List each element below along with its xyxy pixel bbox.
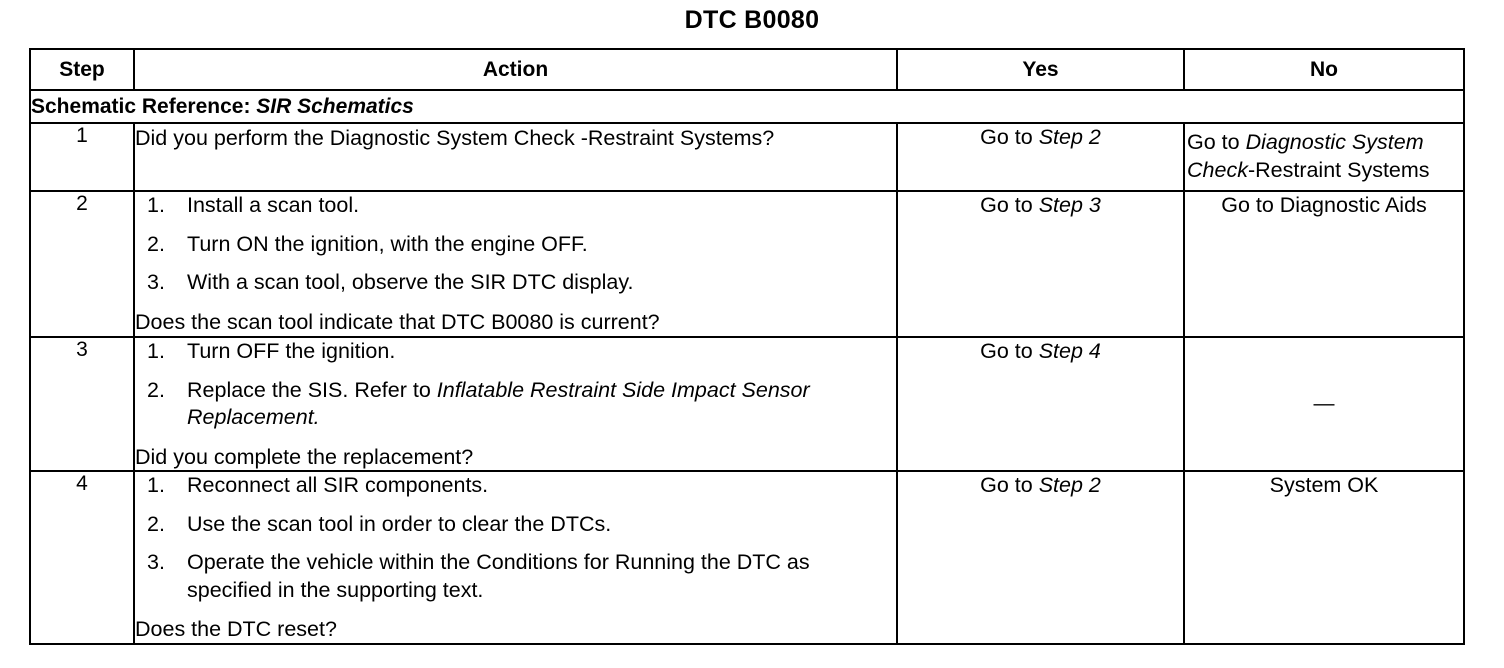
action-step-list: 1.Install a scan tool. 2.Turn ON the ign… [135, 192, 896, 297]
action-question: Did you perform the Diagnostic System Ch… [135, 128, 896, 150]
yes-branch-cell: Go to Step 4 [897, 337, 1184, 471]
document-page: DTC B0080 Step Action Yes No Schematic R… [0, 0, 1504, 668]
table-row: 3 1.Turn OFF the ignition. 2.Replace the… [30, 337, 1464, 471]
no-branch-text: System OK [1270, 473, 1379, 497]
list-item-number: 2. [147, 511, 175, 539]
no-branch-suffix: -Restraint Systems [1248, 158, 1430, 182]
yes-branch-target: Step 3 [1039, 193, 1101, 217]
list-item: 3.With a scan tool, observe the SIR DTC … [147, 269, 896, 297]
column-header-yes: Yes [897, 49, 1184, 90]
list-item: 2.Replace the SIS. Refer to Inflatable R… [147, 377, 896, 432]
list-item-number: 2. [147, 231, 175, 259]
step-number: 4 [30, 471, 134, 644]
table-row: 2 1.Install a scan tool. 2.Turn ON the i… [30, 191, 1464, 337]
list-item-text: With a scan tool, observe the SIR DTC di… [187, 270, 634, 294]
column-header-step: Step [30, 49, 134, 90]
list-item: 1.Turn OFF the ignition. [147, 338, 896, 366]
no-branch-target-part1: Diagnostic System [1246, 130, 1424, 154]
action-cell: 1.Turn OFF the ignition. 2.Replace the S… [134, 337, 897, 471]
action-cell: 1.Reconnect all SIR components. 2.Use th… [134, 471, 897, 644]
table-row: 1 Did you perform the Diagnostic System … [30, 123, 1464, 191]
no-branch-cell: System OK [1184, 471, 1464, 644]
list-item: 3.Operate the vehicle within the Conditi… [147, 549, 896, 604]
yes-branch-prefix: Go to [980, 339, 1039, 363]
diagnostic-table: Step Action Yes No Schematic Reference: … [29, 48, 1465, 645]
list-item-text: Turn ON the ignition, with the engine OF… [187, 232, 588, 256]
list-item: 2.Use the scan tool in order to clear th… [147, 511, 896, 539]
column-header-no: No [1184, 49, 1464, 90]
step-number: 1 [30, 123, 134, 191]
action-cell: Did you perform the Diagnostic System Ch… [134, 123, 897, 191]
no-branch-text: Go to Diagnostic Aids [1221, 193, 1427, 217]
step-number: 2 [30, 191, 134, 337]
action-question: Did you complete the replacement? [135, 444, 896, 471]
schematic-reference-cell: Schematic Reference: SIR Schematics [30, 90, 1464, 123]
no-branch-line2: Check-Restraint Systems [1187, 157, 1461, 185]
yes-branch-prefix: Go to [980, 193, 1039, 217]
schematic-reference-value: SIR Schematics [256, 95, 414, 118]
page-title: DTC B0080 [0, 6, 1504, 35]
schematic-reference-row: Schematic Reference: SIR Schematics [30, 90, 1464, 123]
yes-branch-prefix: Go to [980, 125, 1039, 149]
list-item: 1.Install a scan tool. [147, 192, 896, 220]
schematic-reference-label: Schematic Reference: [31, 95, 250, 118]
no-branch-cell: Go to Diagnostic System Check-Restraint … [1184, 123, 1464, 191]
column-header-action: Action [134, 49, 897, 90]
action-step-list: 1.Turn OFF the ignition. 2.Replace the S… [135, 338, 896, 432]
table-header-row: Step Action Yes No [30, 49, 1464, 90]
list-item: 2.Turn ON the ignition, with the engine … [147, 231, 896, 259]
list-item-number: 3. [147, 269, 175, 297]
action-question: Does the DTC reset? [135, 616, 896, 643]
action-question: Does the scan tool indicate that DTC B00… [135, 309, 896, 336]
step-number: 3 [30, 337, 134, 471]
yes-branch-prefix: Go to [980, 473, 1039, 497]
list-item-text: Reconnect all SIR components. [187, 473, 488, 497]
list-item-number: 1. [147, 472, 175, 500]
action-step-list: 1.Reconnect all SIR components. 2.Use th… [135, 472, 896, 604]
no-branch-prefix: Go to [1187, 130, 1246, 154]
no-branch-cell: — [1184, 337, 1464, 471]
list-item-text: Use the scan tool in order to clear the … [187, 512, 611, 536]
list-item-number: 3. [147, 549, 175, 577]
list-item-text: Install a scan tool. [187, 193, 359, 217]
yes-branch-cell: Go to Step 3 [897, 191, 1184, 337]
list-item-number: 1. [147, 338, 175, 366]
yes-branch-cell: Go to Step 2 [897, 123, 1184, 191]
yes-branch-target: Step 4 [1039, 339, 1101, 363]
yes-branch-target: Step 2 [1039, 473, 1101, 497]
list-item-text: Turn OFF the ignition. [187, 339, 395, 363]
list-item-number: 1. [147, 192, 175, 220]
no-branch-target-part2: Check [1187, 158, 1248, 182]
yes-branch-cell: Go to Step 2 [897, 471, 1184, 644]
table-row: 4 1.Reconnect all SIR components. 2.Use … [30, 471, 1464, 644]
yes-branch-target: Step 2 [1039, 125, 1101, 149]
no-branch-line1: Go to Diagnostic System [1187, 129, 1461, 157]
list-item-text: Operate the vehicle within the Condition… [187, 550, 810, 602]
list-item: 1.Reconnect all SIR components. [147, 472, 896, 500]
action-cell: 1.Install a scan tool. 2.Turn ON the ign… [134, 191, 897, 337]
list-item-number: 2. [147, 377, 175, 405]
no-branch-text: — [1185, 391, 1463, 417]
list-item-text: Replace the SIS. Refer to [187, 378, 437, 402]
no-branch-cell: Go to Diagnostic Aids [1184, 191, 1464, 337]
